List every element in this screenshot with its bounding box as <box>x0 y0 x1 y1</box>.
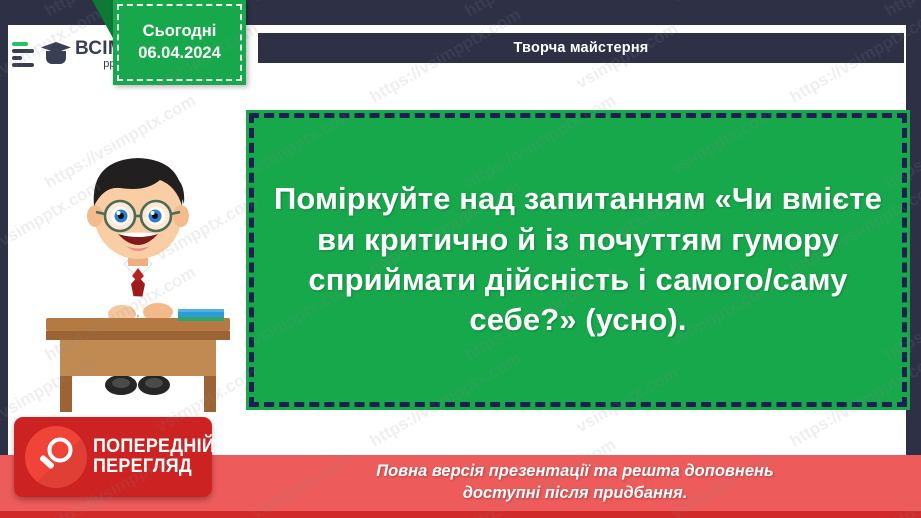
slide-title: Творча майстерня <box>514 40 649 56</box>
schoolboy-at-desk-illustration <box>38 140 238 415</box>
watermark-text: https://vsimpptx.com <box>461 0 619 21</box>
today-label: Сьогодні <box>143 22 217 41</box>
preview-button-labels: ПОПЕРЕДНІЙ ПЕРЕГЛЯД <box>93 437 226 477</box>
main-content-text: Поміркуйте над запитанням «Чи вмієте ви … <box>260 179 896 340</box>
purchase-notice-text: Повна версія презентації та решта доповн… <box>230 460 920 505</box>
preview-button[interactable]: ПОПЕРЕДНІЙ ПЕРЕГЛЯД <box>14 417 212 497</box>
banner-bottom-strip <box>0 511 921 518</box>
purchase-notice-line2: доступні після придбання. <box>230 482 920 504</box>
logo-speed-lines-icon <box>12 42 37 67</box>
brand-logo: ВСІМ pptx <box>12 30 124 78</box>
purchase-notice-line1: Повна версія презентації та решта доповн… <box>230 460 920 482</box>
main-content-box: Поміркуйте над запитанням «Чи вмієте ви … <box>246 110 910 410</box>
presentation-slide: ВСІМ pptx Сьогодні 06.04.2024 Творча май… <box>0 0 921 518</box>
preview-button-line2: ПЕРЕГЛЯД <box>93 457 215 477</box>
watermark-text: vsimpptx.com <box>668 0 777 7</box>
slide-header-bar: Творча майстерня <box>258 33 904 63</box>
magnifier-icon <box>25 426 87 488</box>
graduation-cap-icon <box>41 39 71 69</box>
today-date: 06.04.2024 <box>138 44 221 63</box>
watermark-text: https://vsimpptx.com <box>881 0 921 21</box>
today-date-badge: Сьогодні 06.04.2024 <box>113 0 246 85</box>
watermark-text: vsimpptx.com <box>248 0 357 7</box>
